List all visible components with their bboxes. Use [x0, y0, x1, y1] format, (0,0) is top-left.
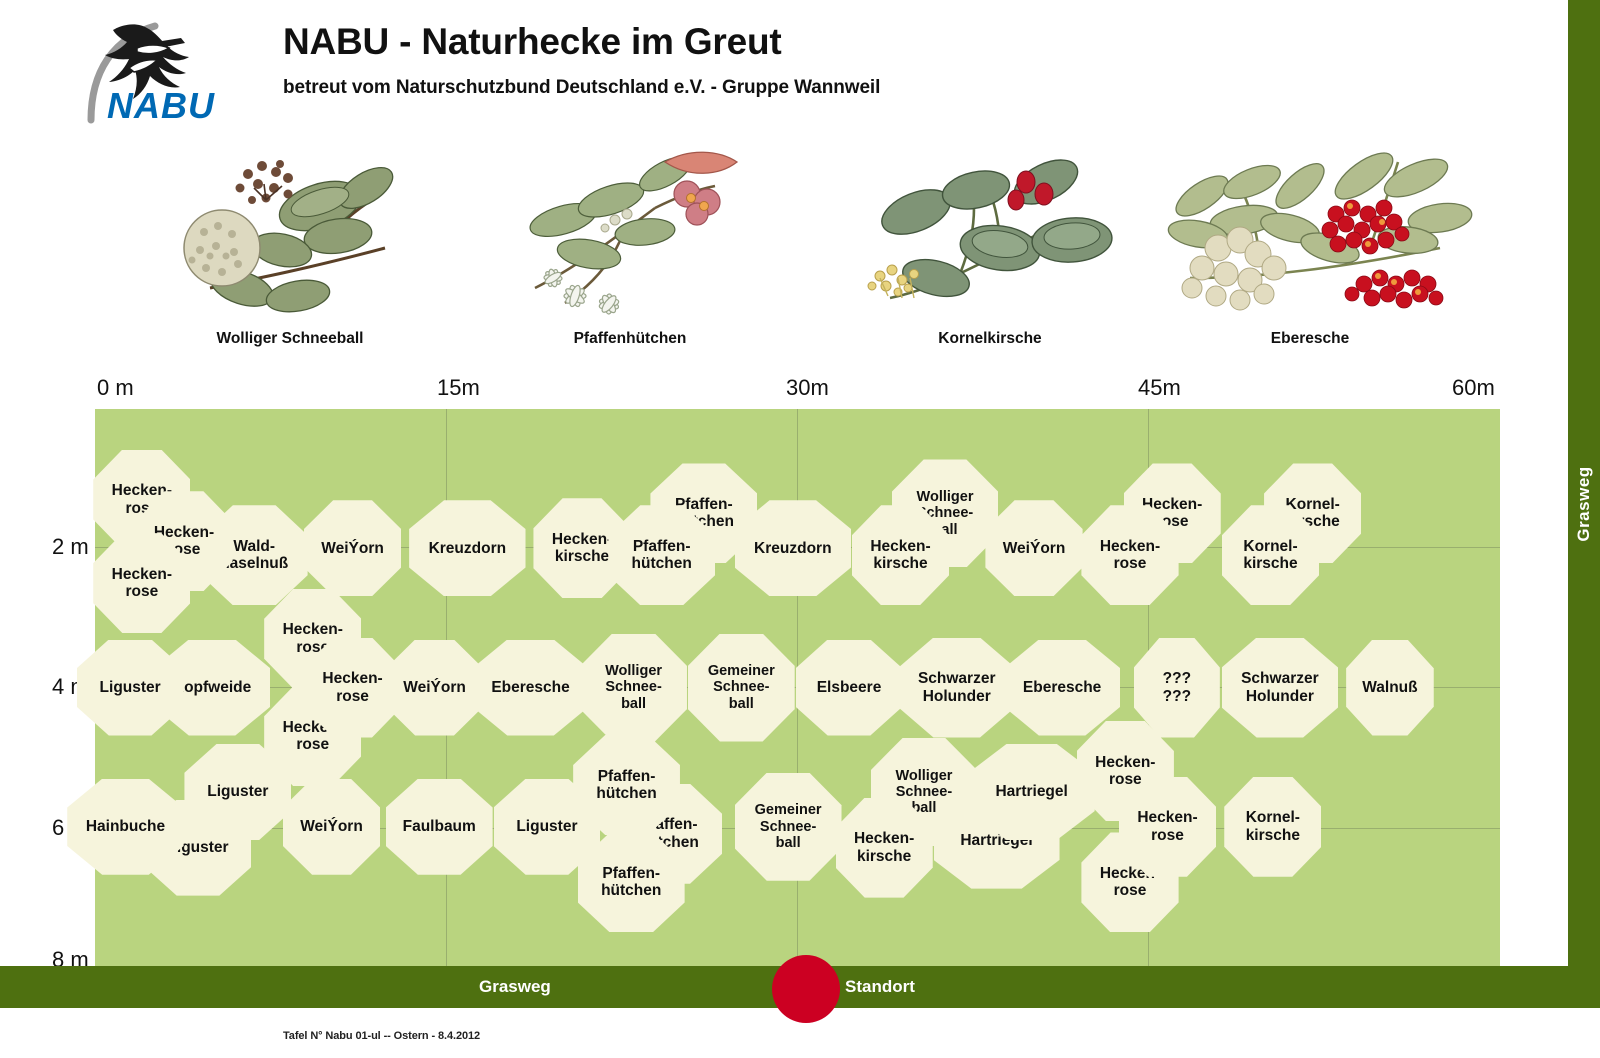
hedge-plant-node: GemeinerSchnee-ball — [688, 634, 795, 742]
hedge-plant-node: Hecken-kirsche — [852, 505, 949, 605]
hedge-plant-node-label: Liguster — [79, 679, 182, 696]
x-axis-label-45m: 45m — [1138, 375, 1181, 401]
hedge-plant-node: Eberesche — [472, 640, 588, 736]
euonymus-europaeus-illustration — [505, 128, 755, 328]
y-axis-label-2m: 2 m — [52, 534, 89, 560]
plant-card-pfaffenhuetchen: Pfaffenhütchen — [505, 128, 755, 348]
hedge-plant-node-label: Pfaffen-hütchen — [610, 538, 713, 573]
hedge-plant-node-label: Hecken-rose — [1121, 809, 1214, 844]
hedge-plant-node: Pfaffen-hütchen — [573, 735, 680, 835]
standort-marker-icon — [772, 955, 840, 1023]
plant-caption: Kornelkirsche — [850, 330, 1130, 348]
hedge-plant-node-label: WeiÝorn — [388, 679, 481, 696]
plant-caption: Wolliger Schneeball — [170, 330, 410, 348]
hedge-plant-node: Eberesche — [1004, 640, 1120, 736]
hedge-plant-node-label: Hecken-rose — [306, 670, 399, 705]
page-subtitle: betreut vom Naturschutzbund Deutschland … — [283, 77, 880, 99]
grasweg-bottom-label: Grasweg — [479, 977, 551, 997]
hedge-plant-node: Hartriegel — [969, 744, 1095, 840]
hedge-plant-node: WeiÝorn — [985, 500, 1082, 596]
plant-illustration-strip: Wolliger Schneeball — [0, 128, 1568, 383]
hedge-plant-node-label: Eberesche — [474, 679, 586, 696]
plant-caption: Pfaffenhütchen — [505, 330, 755, 348]
hedge-plant-node: SchwarzerHolunder — [1222, 638, 1338, 738]
hedge-plant-node-label: ?????? — [1136, 670, 1218, 705]
hedge-plant-node-label: GemeinerSchnee-ball — [690, 663, 793, 712]
hedge-plant-node: Hecken-rose — [1081, 505, 1178, 605]
plant-card-wolliger-schneeball: Wolliger Schneeball — [170, 128, 410, 348]
hedge-plant-node-label: WeiÝorn — [306, 540, 399, 557]
svg-text:NABU: NABU — [107, 85, 215, 124]
hedge-plant-node-label: Liguster — [496, 818, 599, 835]
hedge-plant-node: WeiÝorn — [283, 779, 380, 875]
hedge-plant-node-label: Liguster — [186, 783, 289, 800]
hedge-plant-node-label: WeiÝorn — [285, 818, 378, 835]
poster-board: NABU NABU - Naturhecke im Greut betreut … — [0, 0, 1600, 1058]
x-axis-label-30m: 30m — [786, 375, 829, 401]
grasweg-right-label: Grasweg — [1574, 466, 1594, 541]
plant-caption: Eberesche — [1140, 330, 1480, 348]
hedge-plant-node-label: GemeinerSchnee-ball — [737, 802, 840, 851]
hedge-plant-node: Elsbeere — [796, 640, 903, 736]
hedge-plant-node: Pfaffen-hütchen — [608, 505, 715, 605]
plant-card-kornelkirsche: Kornelkirsche — [850, 128, 1130, 348]
hedge-plant-node: WolligerSchnee-ball — [580, 634, 687, 742]
hedge-plant-node: Kreuzdorn — [409, 500, 525, 596]
cornus-mas-illustration — [850, 128, 1130, 328]
hedge-plant-node-label: Pfaffen-hütchen — [575, 768, 678, 803]
hedge-plant-node-label: Kreuzdorn — [737, 540, 849, 557]
hedge-plant-node-label: Kornel-kirsche — [1226, 809, 1319, 844]
hedge-map-plot: Hecken-roseHecken-roseHecken-roseWald-ha… — [95, 409, 1500, 966]
hedge-plant-node: Faulbaum — [386, 779, 493, 875]
hedge-plant-node-label: Hecken-kirsche — [838, 830, 931, 865]
viburnum-lantana-illustration — [170, 128, 410, 328]
hedge-plant-node: Walnuß — [1346, 640, 1434, 736]
nabu-logo: NABU — [85, 14, 260, 124]
hedge-plant-node-label: WolligerSchnee-ball — [582, 663, 685, 712]
standort-label: Standort — [845, 977, 915, 997]
hedge-plant-node: GemeinerSchnee-ball — [735, 773, 842, 881]
x-axis-label-15m: 15m — [437, 375, 480, 401]
hedge-plant-node-label: Hecken-kirsche — [854, 538, 947, 573]
hedge-plant-node: Hecken-kirsche — [836, 798, 933, 898]
hedge-plant-node: Hecken-rose — [304, 638, 401, 738]
hedge-plant-node-label: Eberesche — [1006, 679, 1118, 696]
hedge-plant-node: Hecken-rose — [1119, 777, 1216, 877]
footnote-text: Tafel N° Nabu 01-ul -- Ostern - 8.4.2012 — [283, 1030, 480, 1042]
hedge-plant-node-label: Elsbeere — [798, 679, 901, 696]
hedge-plant-node: Hainbuche — [67, 779, 183, 875]
hedge-plant-node: Liguster — [77, 640, 184, 736]
sorbus-aucuparia-illustration — [1140, 128, 1480, 328]
x-axis-label-0m: 0 m — [97, 375, 134, 401]
hedge-plant-node-label: Hecken-rose — [95, 566, 188, 601]
hedge-plant-node-label: Hecken-rose — [1083, 538, 1176, 573]
hedge-plant-node-label: Pfaffen-hütchen — [580, 865, 683, 900]
hedge-plant-node-label: Hainbuche — [69, 818, 181, 835]
stork-bird-icon: NABU — [85, 14, 260, 124]
hedge-plant-node-label: Kornel-kirsche — [1224, 538, 1317, 573]
hedge-plant-node: ?????? — [1134, 638, 1220, 738]
hedge-plant-node-label: SchwarzerHolunder — [901, 670, 1013, 705]
hedge-plant-node-label: WeiÝorn — [987, 540, 1080, 557]
hedge-plant-node-label: Faulbaum — [388, 818, 491, 835]
hedge-plant-node: WeiÝorn — [304, 500, 401, 596]
hedge-plant-node: Hecken-rose — [93, 533, 190, 633]
hedge-plant-node-label: SchwarzerHolunder — [1224, 670, 1336, 705]
hedge-plant-node: Kornel-kirsche — [1224, 777, 1321, 877]
hedge-plant-node: Pfaffen-hütchen — [578, 832, 685, 932]
poster-header: NABU NABU - Naturhecke im Greut betreut … — [0, 0, 1568, 140]
plant-card-eberesche: Eberesche — [1140, 128, 1480, 348]
hedge-plant-node: SchwarzerHolunder — [899, 638, 1015, 738]
page-title: NABU - Naturhecke im Greut — [283, 22, 880, 63]
grasweg-right-strip: Grasweg — [1568, 0, 1600, 1008]
title-block: NABU - Naturhecke im Greut betreut vom N… — [283, 22, 880, 99]
hedge-plant-node: Kornel-kirsche — [1222, 505, 1319, 605]
x-axis-label-60m: 60m — [1452, 375, 1495, 401]
hedge-plant-node-label: Walnuß — [1348, 679, 1432, 696]
hedge-plant-node-label: Hartriegel — [971, 783, 1093, 800]
hedge-plant-node-label: Kreuzdorn — [411, 540, 523, 557]
